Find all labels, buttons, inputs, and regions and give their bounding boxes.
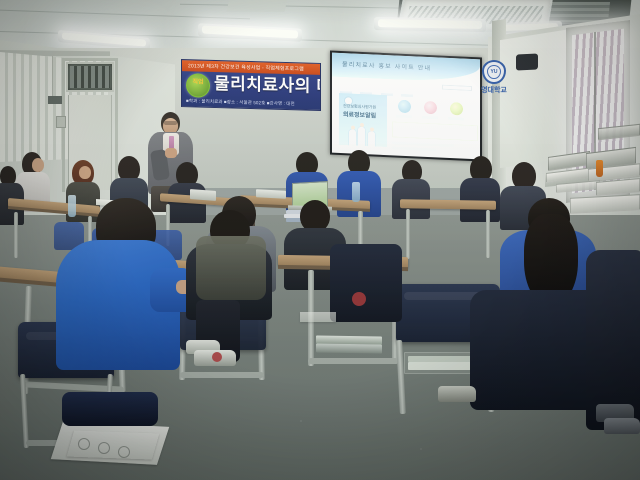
light-switch-plate[interactable]	[56, 116, 66, 128]
book	[256, 189, 286, 199]
shoe	[604, 418, 640, 434]
slide-icon-1	[398, 100, 411, 114]
slide-icon-3	[450, 102, 463, 116]
door-transom-window	[66, 62, 114, 92]
university-crest-icon: YU	[482, 60, 506, 84]
slide-notice-band	[392, 121, 478, 141]
paper-hole	[78, 438, 90, 450]
orange-bottle	[596, 160, 603, 177]
slide-icon-label-1	[396, 115, 412, 118]
projection-screen-frame: 물리치료사 홍보 사이트 안내 건강보험심사평가원 의료정보알림	[330, 51, 482, 162]
paper-hole	[98, 442, 110, 454]
backpack-logo	[352, 292, 366, 306]
slide-text-line	[392, 146, 436, 150]
slide-nav-item	[401, 94, 413, 98]
photo-scene: 2013년 제3차 건강보건 육성사업 - 직업체험프로그램 직업 물리치료사의…	[0, 0, 640, 480]
slide-header-band: 물리치료사 홍보 사이트 안내	[332, 53, 480, 84]
presenter-glasses-icon	[164, 121, 177, 125]
book-under-desk	[316, 343, 382, 353]
university-name: 영대학교	[478, 85, 510, 95]
slide-icon-label-2	[422, 116, 438, 119]
university-logo: YU 영대학교	[478, 60, 510, 94]
event-banner: 2013년 제3차 건강보건 육성사업 - 직업체험프로그램 직업 물리치료사의…	[181, 59, 321, 111]
water-bottle	[68, 195, 76, 217]
banner-subtitle: ■학과 : 물리치료과 ■장소 : 서울관 502호 ■강사명 : 대전	[186, 98, 321, 108]
banner-top-text: 2013년 제3차 건강보건 육성사업 - 직업체험프로그램	[188, 62, 304, 72]
patterned-bag	[196, 236, 266, 300]
presenter-hand	[165, 148, 177, 158]
water-bottle	[352, 182, 360, 202]
shoe-accent	[212, 352, 222, 362]
banner-top-strip: 2013년 제3차 건강보건 육성사업 - 직업체험프로그램	[182, 60, 320, 75]
dark-garment-foreground	[470, 290, 598, 410]
slide-feature-panel: 건강보험심사평가원 의료정보알림	[339, 93, 387, 147]
shoe	[438, 386, 476, 402]
backpack-right	[586, 250, 640, 430]
backpack-center	[330, 244, 402, 322]
blind-cord	[52, 56, 53, 98]
slide-icon-2	[424, 101, 437, 115]
paper-hole	[118, 446, 130, 458]
chair-seat[interactable]	[62, 392, 158, 426]
wall-speaker	[516, 53, 538, 70]
ceiling-panel	[227, 0, 288, 12]
slide-header-text: 물리치료사 홍보 사이트 안내	[342, 59, 431, 72]
slide-people-graphic	[349, 123, 381, 146]
crest-initials: YU	[484, 69, 504, 75]
floor-paper	[300, 312, 336, 322]
banner-emblem-text: 직업	[187, 79, 209, 87]
banner-emblem-icon: 직업	[186, 73, 210, 98]
wall-sign	[48, 96, 63, 104]
banner-title: 물리치료사의 미래	[214, 74, 321, 98]
slide-panel-title: 의료정보알림	[343, 109, 376, 120]
projection-screen: 물리치료사 홍보 사이트 안내 건강보험심사평가원 의료정보알림	[332, 53, 480, 160]
book	[190, 189, 216, 201]
slide-icon-label-3	[448, 117, 464, 120]
